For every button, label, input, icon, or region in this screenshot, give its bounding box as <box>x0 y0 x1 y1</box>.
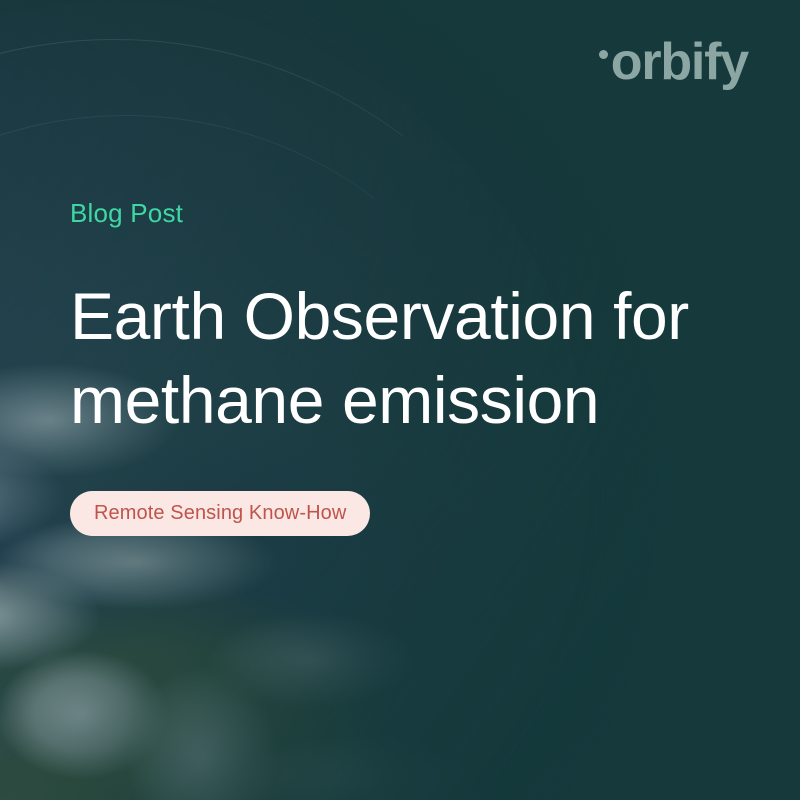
page-title-line-2: methane emission <box>70 358 730 442</box>
page-title: Earth Observation for methane emission <box>70 274 730 442</box>
logo-dot-icon <box>599 50 608 59</box>
category-tag-label: Remote Sensing Know-How <box>94 502 346 525</box>
logo-wordmark: orbify <box>611 36 748 88</box>
eyebrow-label: Blog Post <box>70 196 770 230</box>
card-content: Blog Post Earth Observation for methane … <box>70 196 770 486</box>
category-tag[interactable]: Remote Sensing Know-How <box>70 491 370 536</box>
orbify-logo[interactable]: orbify <box>599 36 748 88</box>
blog-post-social-card: orbify Blog Post Earth Observation for m… <box>0 0 800 800</box>
page-title-line-1: Earth Observation for <box>70 274 730 358</box>
